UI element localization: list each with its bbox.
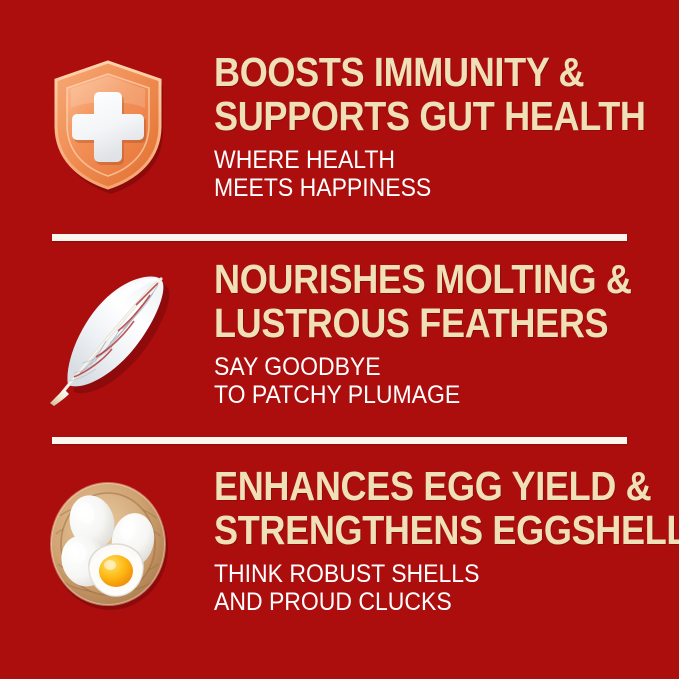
feature-subline-line-2: MEETS HAPPINESS	[214, 174, 665, 202]
feature-row-immunity: BOOSTS IMMUNITY & SUPPORTS GUT HEALTH WH…	[0, 48, 679, 230]
feature-icon-cell	[0, 255, 214, 433]
feature-headline-line-2: LUSTROUS FEATHERS	[214, 301, 632, 345]
feature-text-cell: ENHANCES EGG YIELD & STRENGTHENS EGGSHEL…	[214, 462, 679, 616]
feature-row-feathers: NOURISHES MOLTING & LUSTROUS FEATHERS SA…	[0, 255, 679, 433]
feature-icon-cell	[0, 48, 214, 230]
feature-headline-line-1: NOURISHES MOLTING &	[214, 257, 632, 301]
shield-plus-icon	[44, 56, 172, 196]
feature-headline-line-1: BOOSTS IMMUNITY &	[214, 50, 646, 94]
feature-subline-line-2: AND PROUD CLUCKS	[214, 588, 679, 616]
section-divider	[52, 437, 627, 444]
feature-subline-line-1: WHERE HEALTH	[214, 146, 665, 174]
feature-headline-line-1: ENHANCES EGG YIELD &	[214, 464, 679, 508]
feature-text-cell: BOOSTS IMMUNITY & SUPPORTS GUT HEALTH WH…	[214, 48, 679, 202]
feature-headline-line-2: STRENGTHENS EGGSHELLS	[214, 508, 679, 552]
feather-icon	[40, 261, 176, 406]
feature-text-cell: NOURISHES MOLTING & LUSTROUS FEATHERS SA…	[214, 255, 679, 409]
feature-row-eggs: ENHANCES EGG YIELD & STRENGTHENS EGGSHEL…	[0, 462, 679, 642]
bowl-of-eggs-icon	[44, 472, 174, 612]
feature-subline-line-2: TO PATCHY PLUMAGE	[214, 381, 651, 409]
feature-icon-cell	[0, 462, 214, 642]
feature-subline-line-1: SAY GOODBYE	[214, 353, 651, 381]
feature-subline-line-1: THINK ROBUST SHELLS	[214, 560, 679, 588]
feature-headline-line-2: SUPPORTS GUT HEALTH	[214, 94, 646, 138]
benefits-infographic: BOOSTS IMMUNITY & SUPPORTS GUT HEALTH WH…	[0, 0, 679, 679]
section-divider	[52, 234, 627, 241]
